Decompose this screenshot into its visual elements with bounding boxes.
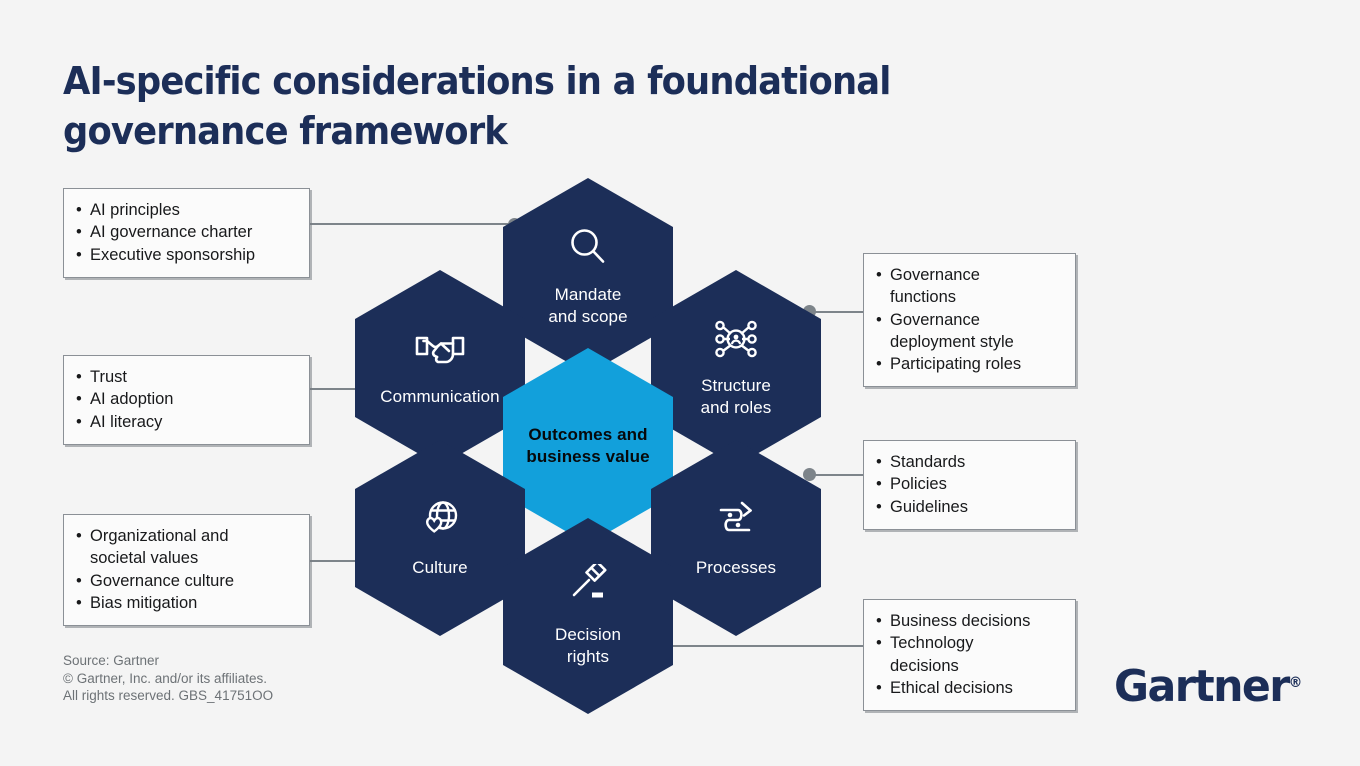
network-nodes-icon — [710, 317, 762, 366]
hexagon-decision-rights[interactable]: Decision rights — [503, 518, 673, 714]
callout-list: AI principles AI governance charter Exec… — [76, 199, 297, 266]
callout-culture: Organizational and societal values Gover… — [63, 514, 310, 626]
hexagon-outcomes-and-business-value[interactable]: Outcomes and business value — [503, 348, 673, 544]
hexagon-label: Outcomes and business value — [526, 424, 649, 468]
gartner-logo: Gartner® — [1114, 661, 1302, 712]
connector-dot-processes — [803, 468, 816, 481]
callout-structure-and-roles: Governance functions Governance deployme… — [863, 253, 1076, 387]
list-item: Governance functions — [876, 264, 1063, 309]
list-item: Governance culture — [76, 570, 297, 592]
callout-communication: Trust AI adoption AI literacy — [63, 355, 310, 445]
connector-line-processes — [810, 474, 865, 476]
registered-mark: ® — [1289, 675, 1303, 691]
list-item: Governance deployment style — [876, 309, 1063, 354]
hexagon-label: Culture — [412, 557, 468, 580]
globe-heart-icon — [415, 497, 465, 548]
callout-list: Trust AI adoption AI literacy — [76, 366, 297, 433]
connector-line-mandate — [310, 223, 514, 225]
list-item: Trust — [76, 366, 297, 388]
connector-line-structure — [810, 311, 865, 313]
hexagon-processes[interactable]: Processes — [651, 440, 821, 636]
page-title: AI-specific considerations in a foundati… — [63, 56, 993, 156]
list-item: AI governance charter — [76, 221, 297, 243]
list-item: Executive sponsorship — [76, 244, 297, 266]
gavel-icon — [562, 564, 614, 615]
list-item: AI adoption — [76, 388, 297, 410]
list-item: Bias mitigation — [76, 592, 297, 614]
process-flow-arrow-icon — [711, 497, 761, 548]
list-item: Ethical decisions — [876, 677, 1063, 699]
hexagon-label: Processes — [696, 557, 776, 580]
source-attribution: Source: Gartner © Gartner, Inc. and/or i… — [63, 652, 273, 705]
list-item: Organizational and societal values — [76, 525, 297, 570]
hexagon-mandate-and-scope[interactable]: Mandate and scope — [503, 178, 673, 374]
list-item: Technology decisions — [876, 632, 1063, 677]
list-item: Policies — [876, 473, 1063, 495]
gartner-logo-text: Gartner — [1114, 661, 1289, 712]
connector-line-decision — [660, 645, 865, 647]
hexagon-communication[interactable]: Communication — [355, 270, 525, 466]
callout-list: Governance functions Governance deployme… — [876, 264, 1063, 375]
callout-processes: Standards Policies Guidelines — [863, 440, 1076, 530]
hexagon-label: Structure and roles — [701, 375, 772, 420]
list-item: Guidelines — [876, 496, 1063, 518]
hexagon-culture[interactable]: Culture — [355, 440, 525, 636]
list-item: Business decisions — [876, 610, 1063, 632]
magnifier-icon — [565, 224, 611, 275]
list-item: AI literacy — [76, 411, 297, 433]
list-item: Standards — [876, 451, 1063, 473]
hexagon-label: Decision rights — [555, 624, 621, 669]
list-item: AI principles — [76, 199, 297, 221]
infographic-canvas: AI-specific considerations in a foundati… — [0, 0, 1360, 766]
callout-list: Business decisions Technology decisions … — [876, 610, 1063, 699]
callout-mandate-and-scope: AI principles AI governance charter Exec… — [63, 188, 310, 278]
callout-decision-rights: Business decisions Technology decisions … — [863, 599, 1076, 711]
list-item: Participating roles — [876, 353, 1063, 375]
hexagon-label: Communication — [380, 386, 499, 409]
handshake-icon — [413, 328, 467, 377]
hexagon-structure-and-roles[interactable]: Structure and roles — [651, 270, 821, 466]
hexagon-label: Mandate and scope — [548, 284, 627, 329]
callout-list: Standards Policies Guidelines — [876, 451, 1063, 518]
callout-list: Organizational and societal values Gover… — [76, 525, 297, 614]
